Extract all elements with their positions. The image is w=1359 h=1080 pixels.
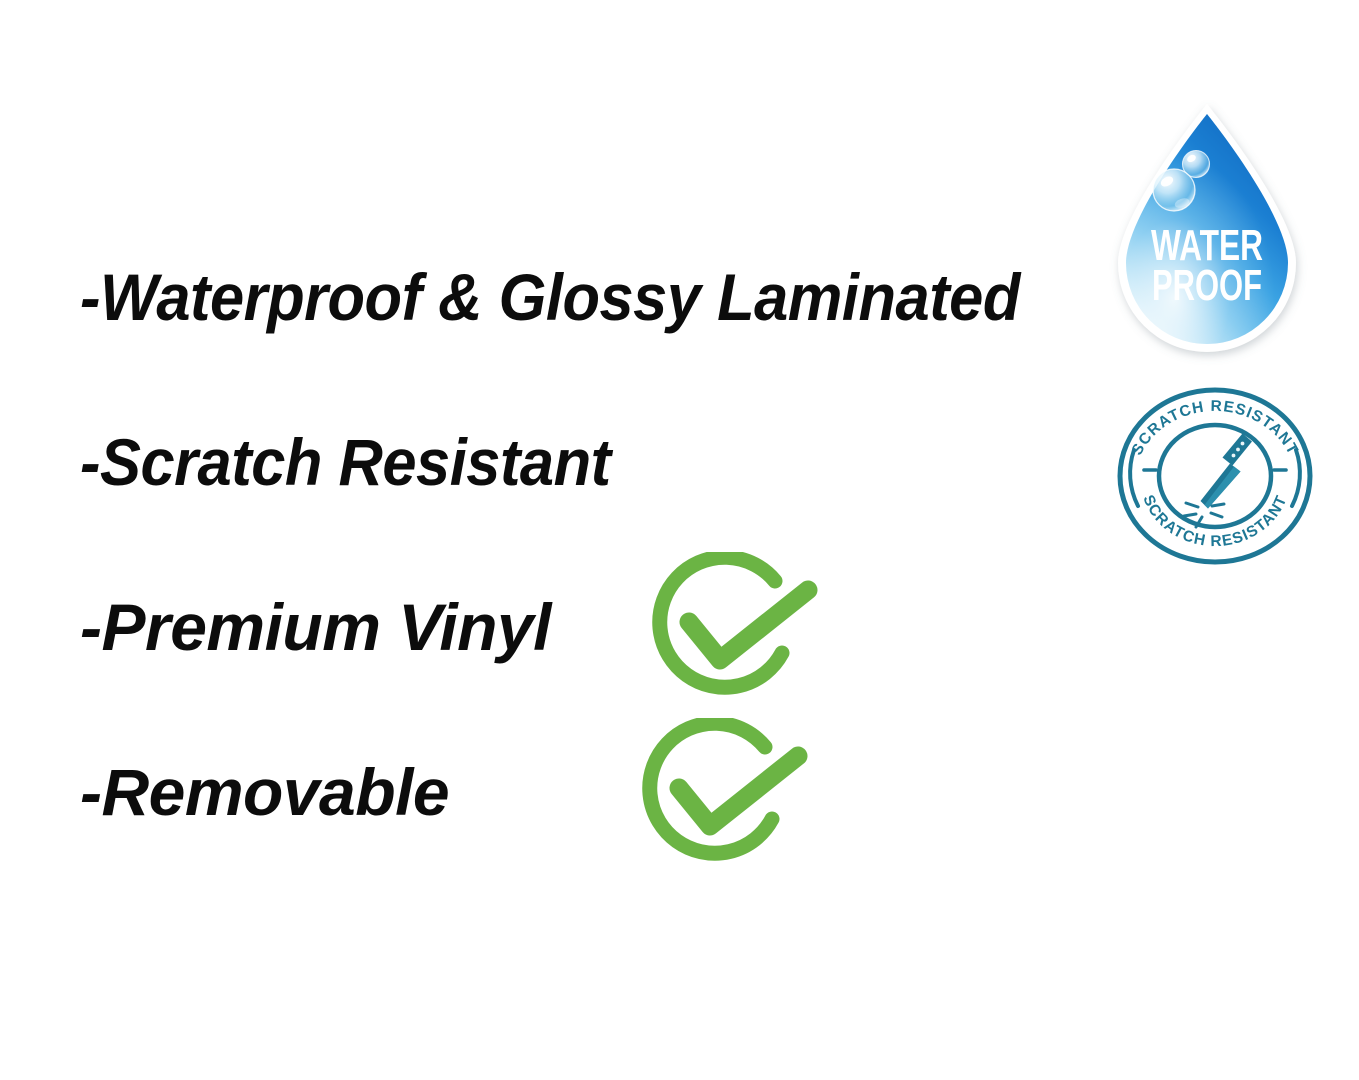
- feature-label-2: Scratch Resistant: [100, 429, 611, 495]
- check-mark-stroke: [679, 756, 798, 826]
- bullet-dash-4: -: [80, 759, 101, 825]
- check-circle-premium-vinyl: [637, 552, 837, 717]
- stamp-dash-left: [1130, 450, 1138, 506]
- bubble-large-icon: [1153, 169, 1195, 211]
- feature-label-3: Premium Vinyl: [101, 594, 551, 660]
- knife-icon: [1201, 434, 1253, 509]
- waterproof-text-line2: PROOF: [1152, 261, 1262, 310]
- feature-item-premium-vinyl: -Premium Vinyl: [80, 594, 551, 660]
- stamp-dash-right: [1292, 450, 1300, 506]
- bullet-dash-3: -: [80, 594, 101, 660]
- feature-item-removable: -Removable: [80, 759, 449, 825]
- bullet-dash-1: -: [80, 264, 100, 330]
- feature-label-1: Waterproof & Glossy Laminated: [100, 264, 1020, 330]
- check-circle-removable: [627, 718, 827, 883]
- feature-list-graphic: -Waterproof & Glossy Laminated -Scratch …: [0, 0, 1359, 1080]
- scratch-resistant-badge: SCRATCH RESISTANT SCRATCH RESISTANT: [1116, 386, 1314, 566]
- waterproof-badge: WATER PROOF: [1104, 100, 1310, 366]
- stamp-inner-ring: [1159, 425, 1271, 527]
- scratch-text-bottom: SCRATCH RESISTANT: [1139, 493, 1290, 551]
- feature-item-waterproof-glossy-laminated: -Waterproof & Glossy Laminated: [80, 264, 1020, 330]
- feature-item-scratch-resistant: -Scratch Resistant: [80, 429, 611, 495]
- feature-label-4: Removable: [101, 759, 449, 825]
- bullet-dash-2: -: [80, 429, 100, 495]
- check-mark-stroke: [689, 590, 808, 660]
